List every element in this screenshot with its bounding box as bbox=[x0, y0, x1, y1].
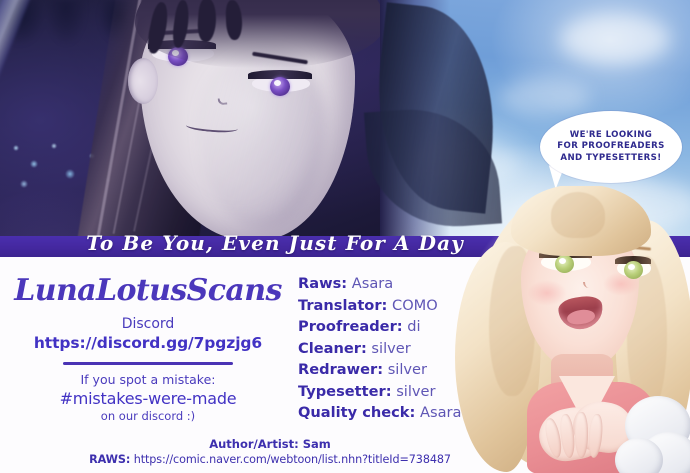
credit-role: Raws: bbox=[298, 275, 347, 292]
iris bbox=[270, 77, 290, 96]
scanlation-group-name: LunaLotusScans bbox=[14, 271, 282, 311]
author-label: Author/Artist: bbox=[209, 437, 299, 451]
mistake-channel-name: #mistakes-were-made bbox=[14, 388, 282, 409]
credit-role: Redrawer: bbox=[298, 361, 383, 378]
credit-name: di bbox=[407, 318, 420, 335]
eye-glint bbox=[628, 264, 635, 270]
eye-glint bbox=[274, 80, 281, 86]
credit-name: silver bbox=[371, 340, 410, 357]
character-right-eye bbox=[617, 258, 651, 280]
webtoon-credits-page: WE'RE LOOKING FOR PROOFREADERS AND TYPES… bbox=[0, 0, 690, 473]
cloud bbox=[500, 78, 590, 116]
credit-name: COMO bbox=[392, 297, 438, 314]
credit-role: Translator: bbox=[298, 297, 387, 314]
cloud bbox=[560, 14, 670, 64]
eye-glint bbox=[559, 258, 566, 264]
credit-role: Quality check: bbox=[298, 404, 415, 421]
scanlation-info-block: LunaLotusScans Discord https://discord.g… bbox=[14, 271, 282, 424]
raws-url[interactable]: https://comic.naver.com/webtoon/list.nhn… bbox=[134, 453, 451, 466]
character-right-eye bbox=[252, 72, 310, 96]
discord-invite-link[interactable]: https://discord.gg/7pgzjg6 bbox=[14, 333, 282, 353]
speech-bubble-text: WE'RE LOOKING FOR PROOFREADERS AND TYPES… bbox=[551, 130, 671, 164]
credit-role: Cleaner: bbox=[298, 340, 367, 357]
bang-strand bbox=[551, 192, 605, 238]
mistake-prompt: If you spot a mistake: bbox=[14, 372, 282, 388]
mistake-suffix: on our discord :) bbox=[14, 409, 282, 424]
credit-name: silver bbox=[388, 361, 427, 378]
blonde-character bbox=[455, 186, 690, 473]
finger bbox=[575, 412, 588, 458]
discord-label: Discord bbox=[14, 315, 282, 333]
author-name: Sam bbox=[303, 437, 331, 451]
section-divider bbox=[63, 362, 233, 365]
credit-role: Proofreader: bbox=[298, 318, 403, 335]
credit-name: silver bbox=[396, 383, 435, 400]
raws-label: RAWS: bbox=[89, 453, 130, 466]
speech-bubble: WE'RE LOOKING FOR PROOFREADERS AND TYPES… bbox=[540, 111, 682, 183]
credit-role: Typesetter: bbox=[298, 383, 392, 400]
credit-name: Asara bbox=[352, 275, 393, 292]
